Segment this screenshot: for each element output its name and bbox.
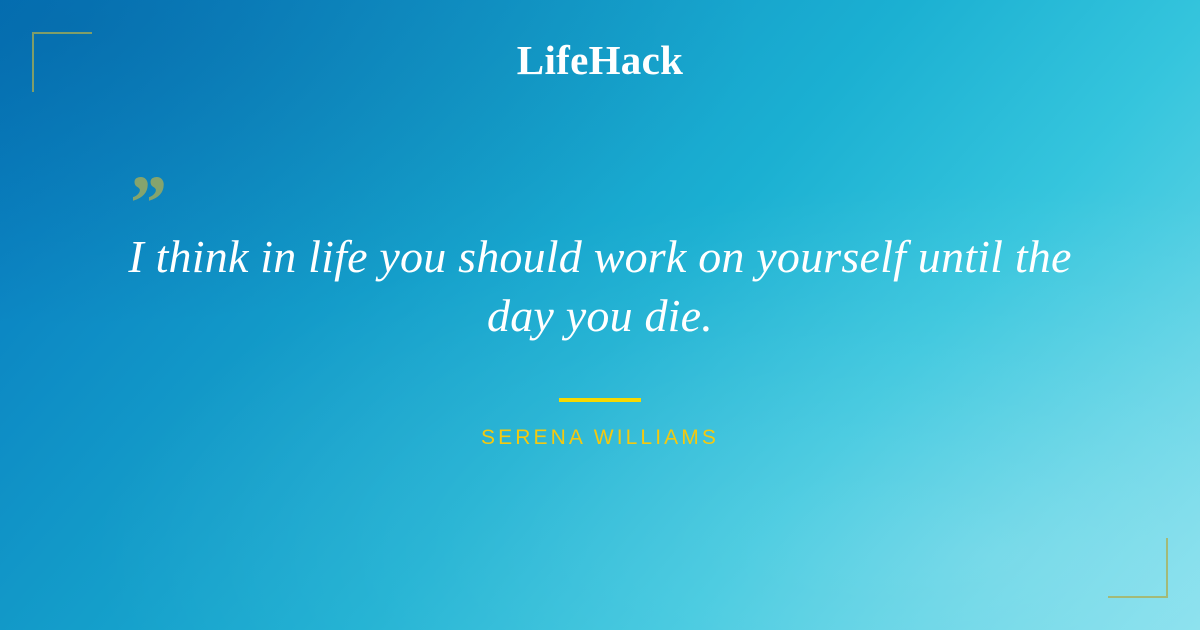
quote-card: LifeHack ” I think in life you should wo… — [0, 0, 1200, 630]
quote-text: I think in life you should work on yours… — [95, 228, 1105, 346]
quote-content: ” I think in life you should work on you… — [0, 150, 1200, 450]
divider-rule — [559, 398, 641, 402]
quote-author: SERENA WILLIAMS — [481, 426, 719, 450]
brand-logo-container: LifeHack — [0, 0, 1200, 120]
quotation-mark-icon: ” — [126, 164, 163, 242]
corner-bracket-bottom-right-icon — [1108, 538, 1168, 598]
brand-logo-text: LifeHack — [517, 40, 683, 81]
